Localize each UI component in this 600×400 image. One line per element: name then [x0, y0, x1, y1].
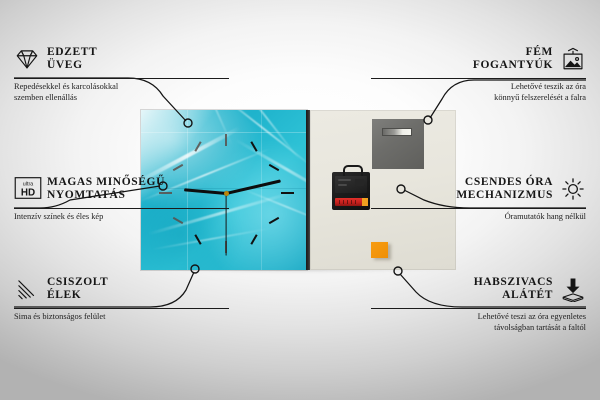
print-band-4: [261, 110, 262, 270]
feature-foam-backing[interactable]: HABSZIVACS ALÁTÉT Lehetővé teszi az óra …: [371, 272, 586, 333]
feature-description: Lehetővé teszi az óra egyenletes távolsá…: [371, 312, 586, 333]
feature-title: CSENDES ÓRA MECHANIZMUS: [456, 176, 553, 202]
svg-text:HD: HD: [21, 187, 35, 198]
infographic-canvas: EDZETT ÜVEG Repedésekkel és karcolásokka…: [0, 0, 600, 400]
foam-pad-arrow-icon: [560, 276, 586, 302]
feature-description: Óramutatók hang nélkül: [371, 212, 586, 223]
battery-mark: [355, 200, 356, 204]
feature-title: FÉM FOGANTYÚK: [473, 46, 553, 72]
print-band-1: [141, 132, 307, 133]
gear-icon: [560, 176, 586, 202]
feature-silent-mechanism[interactable]: CSENDES ÓRA MECHANIZMUS Óramutatók hang …: [371, 172, 586, 223]
battery-mark: [343, 200, 344, 204]
mechanism-face: [335, 176, 367, 193]
feature-title: MAGAS MINŐSÉGŰ NYOMTATÁS: [47, 176, 165, 202]
battery-mark: [351, 200, 352, 204]
feature-description: Sima és biztonságos felület: [14, 312, 229, 323]
feature-polished-edges[interactable]: CSISZOLT ÉLEK Sima és biztonságos felüle…: [14, 272, 229, 323]
feature-tempered-glass[interactable]: EDZETT ÜVEG Repedésekkel és karcolásokka…: [14, 42, 229, 103]
metal-hanger-plate: [372, 119, 424, 169]
clock-mechanism-box: [332, 172, 370, 210]
ultra-hd-icon: ultra HD: [14, 176, 40, 202]
picture-frame-icon: [560, 46, 586, 72]
diamond-icon: [14, 46, 40, 72]
polished-edges-icon: [14, 276, 40, 302]
feature-description: Lehetővé teszik az óra könnyű felszerelé…: [371, 82, 586, 103]
mechanism-hanger-loop: [343, 165, 363, 176]
feature-high-quality-print[interactable]: ultra HD MAGAS MINŐSÉGŰ NYOMTATÁS Intenz…: [14, 172, 229, 223]
battery-mark: [339, 200, 340, 204]
feature-description: Intenzív színek és éles kép: [14, 212, 229, 223]
feature-title: EDZETT ÜVEG: [47, 46, 97, 72]
battery-positive-terminal: [362, 198, 368, 206]
mechanism-detail-3: [355, 179, 364, 186]
battery-mark: [347, 200, 348, 204]
feature-description: Repedésekkel és karcolásokkal szemben el…: [14, 82, 229, 103]
tick-12: [225, 134, 227, 146]
feature-divider: [371, 78, 586, 79]
foam-pad: [371, 242, 388, 258]
mechanism-detail-1: [338, 179, 351, 181]
feature-divider: [14, 208, 229, 209]
feature-divider: [371, 308, 586, 309]
hanger-slot: [382, 128, 412, 136]
battery: [335, 198, 367, 206]
feature-title: CSISZOLT ÉLEK: [47, 276, 108, 302]
feature-divider: [14, 78, 229, 79]
feature-divider: [371, 208, 586, 209]
feature-metal-handles[interactable]: FÉM FOGANTYÚK Lehetővé teszik az óra kön…: [371, 42, 586, 103]
feature-divider: [14, 308, 229, 309]
tick-3: [281, 192, 294, 194]
mechanism-detail-2: [338, 184, 347, 186]
feature-title: HABSZIVACS ALÁTÉT: [474, 276, 553, 302]
